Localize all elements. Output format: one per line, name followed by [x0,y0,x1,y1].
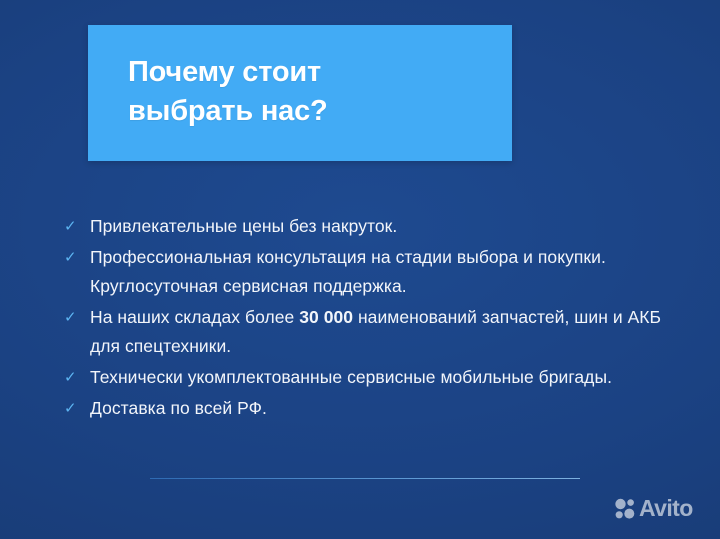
benefit-text: Доставка по всей РФ. [90,394,664,423]
benefit-text-before: На наших складах более [90,307,299,327]
title-banner: Почему стоит выбрать нас? [88,25,512,161]
list-item: ✓ Доставка по всей РФ. [64,394,664,423]
check-icon: ✓ [64,212,82,241]
list-item: ✓ Профессиональная консультация на стади… [64,243,664,301]
benefit-text: Технически укомплектованные сервисные мо… [90,363,664,392]
avito-watermark: Avito [614,497,693,520]
benefit-text: На наших складах более 30 000 наименован… [90,303,664,361]
divider [150,478,580,479]
page-title: Почему стоит выбрать нас? [128,53,500,130]
check-icon: ✓ [64,303,82,332]
list-item: ✓ На наших складах более 30 000 наименов… [64,303,664,361]
avito-dots-icon [614,498,636,520]
benefit-text: Привлекательные цены без накруток. [90,212,664,241]
benefits-list: ✓ Привлекательные цены без накруток. ✓ П… [64,212,664,425]
list-item: ✓ Технически укомплектованные сервисные … [64,363,664,392]
benefit-text: Профессиональная консультация на стадии … [90,243,664,301]
list-item: ✓ Привлекательные цены без накруток. [64,212,664,241]
check-icon: ✓ [64,243,82,272]
benefit-text-emphasis: 30 000 [299,307,353,327]
slide-canvas: Почему стоит выбрать нас? ✓ Привлекатель… [0,0,720,539]
check-icon: ✓ [64,394,82,423]
check-icon: ✓ [64,363,82,392]
avito-wordmark: Avito [639,497,693,520]
